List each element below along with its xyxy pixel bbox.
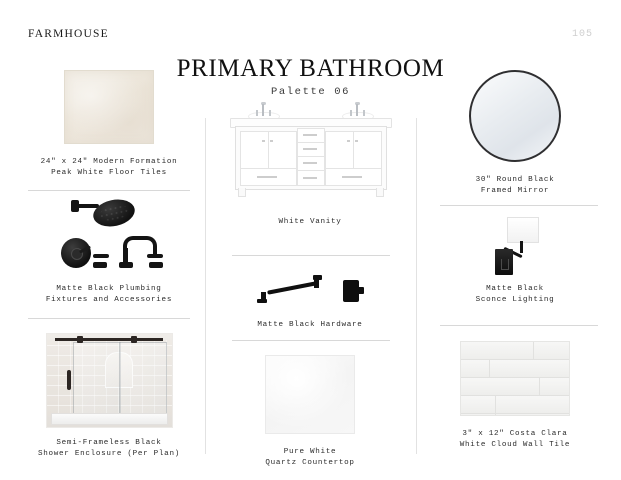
- sconce-detail: [501, 259, 509, 270]
- vanity-pull-3: [257, 176, 277, 178]
- floor-tile-swatch: [18, 70, 200, 144]
- vanity-pull-9: [355, 140, 358, 142]
- sconce-stem: [520, 241, 523, 253]
- brand-label: FARMHOUSE: [28, 28, 109, 40]
- vanity-pull-2: [270, 140, 273, 142]
- board-item-hardware: Matte Black Hardware: [230, 272, 390, 331]
- board-item-vanity: White Vanity: [230, 100, 390, 228]
- faucet-right-icon: [350, 104, 366, 118]
- board-item-countertop: Pure White Quartz Countertop: [230, 355, 390, 469]
- divider: [28, 190, 190, 191]
- board-item-sconce: Matte Black Sconce Lighting: [425, 215, 605, 306]
- divider: [440, 325, 598, 326]
- board-item-caption: White Vanity: [230, 217, 390, 228]
- quartz-countertop-swatch: [230, 355, 390, 434]
- vanity-door-2: [268, 131, 297, 169]
- vanity-pull-8: [347, 140, 350, 142]
- matte-black-plumbing-fixtures-image: [18, 196, 200, 276]
- white-double-vanity-image: [230, 100, 390, 198]
- faucet-spout-icon: [123, 236, 157, 256]
- faucet-handle-right-icon: [147, 254, 163, 258]
- board-item-caption: Semi-Frameless Black Shower Enclosure (P…: [18, 438, 200, 460]
- shower-glass-panel-left: [73, 342, 121, 417]
- vanity-pull-1: [262, 140, 265, 142]
- vanity-center-drawer-2: [297, 142, 325, 157]
- column-divider-right: [416, 118, 417, 454]
- column-divider-left: [205, 118, 206, 454]
- vanity-pull-4: [303, 134, 317, 136]
- faucet-base-icon: [119, 262, 133, 268]
- divider: [232, 255, 390, 256]
- vanity-pull-10: [342, 176, 362, 178]
- vanity-center-drawer-3: [297, 156, 325, 171]
- page-number: 105: [572, 29, 593, 40]
- design-board: FARMHOUSE 105 PRIMARY BATHROOM Palette 0…: [0, 0, 621, 480]
- matte-black-wall-sconce-image: [425, 215, 605, 277]
- shower-roller-left-icon: [77, 336, 83, 343]
- faucet-handle-base-right-icon: [149, 262, 163, 268]
- board-item-wall-tile: 3" x 12" Costa Clara White Cloud Wall Ti…: [425, 341, 605, 451]
- board-item-plumbing-fixtures: Matte Black Plumbing Fixtures and Access…: [18, 196, 200, 306]
- subway-wall-tile-swatch: [425, 341, 605, 416]
- vanity-door-1: [240, 131, 269, 169]
- shower-door-handle-icon: [67, 370, 71, 390]
- rain-shower-head-icon: [91, 196, 137, 230]
- board-item-caption: Matte Black Sconce Lighting: [425, 284, 605, 306]
- board-item-caption: 3" x 12" Costa Clara White Cloud Wall Ti…: [425, 429, 605, 451]
- towel-bar-post-right: [314, 279, 319, 288]
- semi-frameless-shower-enclosure-image: [18, 333, 200, 428]
- lamp-shade-icon: [507, 217, 539, 243]
- divider: [28, 318, 190, 319]
- board-item-floor-tile: 24" x 24" Modern Formation Peak White Fl…: [18, 70, 200, 179]
- shower-glass-panel-right: [119, 342, 167, 417]
- board-item-caption: 24" x 24" Modern Formation Peak White Fl…: [18, 157, 200, 179]
- towel-bar-icon: [267, 281, 317, 294]
- board-item-caption: Pure White Quartz Countertop: [230, 447, 390, 469]
- towel-bar-post-left: [261, 292, 266, 301]
- vanity-leg-left: [238, 188, 246, 197]
- vanity-center-drawer-1: [297, 128, 325, 143]
- shower-track-icon: [55, 338, 163, 341]
- board-item-mirror: 30" Round Black Framed Mirror: [425, 70, 605, 197]
- matte-black-towel-bar-and-hook-image: [230, 272, 390, 312]
- vanity-pull-6: [303, 162, 317, 164]
- robe-hook-knob: [357, 287, 364, 294]
- divider: [440, 205, 598, 206]
- board-item-shower-enclosure: Semi-Frameless Black Shower Enclosure (P…: [18, 333, 200, 460]
- vanity-leg-right: [376, 188, 384, 197]
- faucet-left-icon: [256, 104, 272, 118]
- faucet-handle-base-left-icon: [93, 262, 107, 268]
- shower-roller-right-icon: [131, 336, 137, 343]
- round-black-framed-mirror-image: [425, 70, 605, 162]
- vanity-door-3: [325, 131, 354, 169]
- vanity-pull-7: [303, 177, 317, 179]
- board-item-caption: Matte Black Plumbing Fixtures and Access…: [18, 284, 200, 306]
- faucet-handle-left-icon: [93, 254, 109, 258]
- shower-pan: [51, 413, 168, 425]
- towel-bar-base-right: [313, 275, 322, 280]
- divider: [232, 340, 390, 341]
- vanity-door-4: [353, 131, 382, 169]
- board-item-caption: Matte Black Hardware: [230, 320, 390, 331]
- vanity-pull-5: [303, 148, 317, 150]
- board-item-caption: 30" Round Black Framed Mirror: [425, 175, 605, 197]
